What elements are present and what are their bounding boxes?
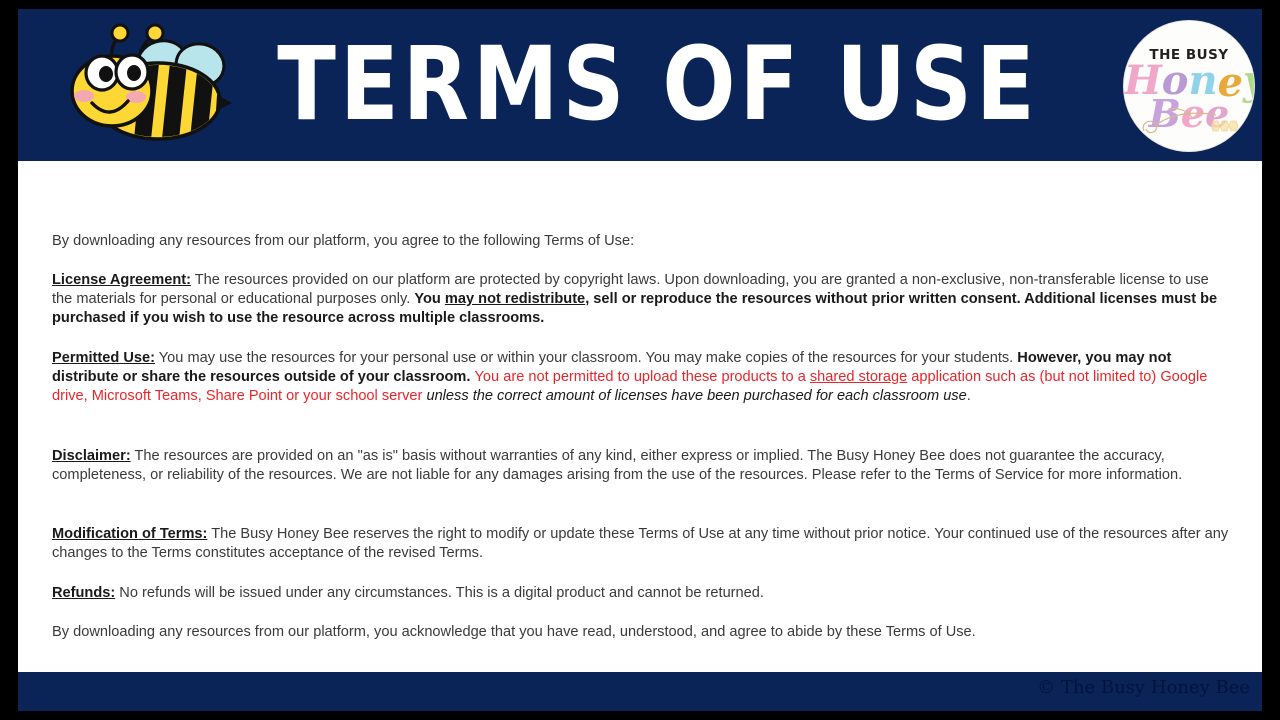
section-refunds: Refunds: No refunds will be issued under… [52,584,1230,603]
slide-page: TERMS OF USE THE BUSY Honey Bee By d [18,9,1262,711]
section-permitted-use: Permitted Use: You may use the resources… [52,349,1230,407]
section-modification-of-terms: Modification of Terms: The Busy Honey Be… [52,525,1230,564]
brand-logo: THE BUSY Honey Bee [1124,21,1254,151]
intro-paragraph: By downloading any resources from our pl… [52,232,1230,251]
section-heading-disclaimer: Disclaimer: [52,448,131,464]
terms-content: By downloading any resources from our pl… [18,161,1262,672]
header-banner: TERMS OF USE THE BUSY Honey Bee [18,9,1262,161]
permitted-text-1: You may use the resources for your perso… [155,350,1017,366]
footer-banner: © The Busy Honey Bee [18,672,1262,711]
permitted-red-1: You are not permitted to upload these pr… [475,369,810,385]
permitted-text-end: . [967,388,971,404]
modification-text-1: The Busy Honey Bee reserves the right to… [52,526,1228,561]
closing-paragraph: By downloading any resources from our pl… [52,623,1230,642]
logo-honeycomb-icon [1208,119,1242,137]
disclaimer-text-1: The resources are provided on an "as is"… [52,448,1182,483]
section-heading-license: License Agreement: [52,272,191,288]
permitted-italic-1: unless the correct amount of licenses ha… [426,388,966,404]
section-heading-modification: Modification of Terms: [52,526,207,542]
section-heading-refunds: Refunds: [52,585,115,601]
refunds-text-1: No refunds will be issued under any circ… [115,585,764,601]
bee-mascot-icon [54,23,244,151]
section-license-agreement: License Agreement: The resources provide… [52,271,1230,329]
permitted-red-underline: shared storage [810,369,907,385]
section-disclaimer: Disclaimer: The resources are provided o… [52,447,1230,486]
license-red-underline: may not redistribute [445,291,585,307]
section-heading-permitted: Permitted Use: [52,350,155,366]
slide-root: TERMS OF USE THE BUSY Honey Bee By d [0,0,1280,720]
page-title: TERMS OF USE [258,14,1058,156]
license-bold-1: You [414,291,445,307]
footer-credit: © The Busy Honey Bee [1037,677,1250,698]
